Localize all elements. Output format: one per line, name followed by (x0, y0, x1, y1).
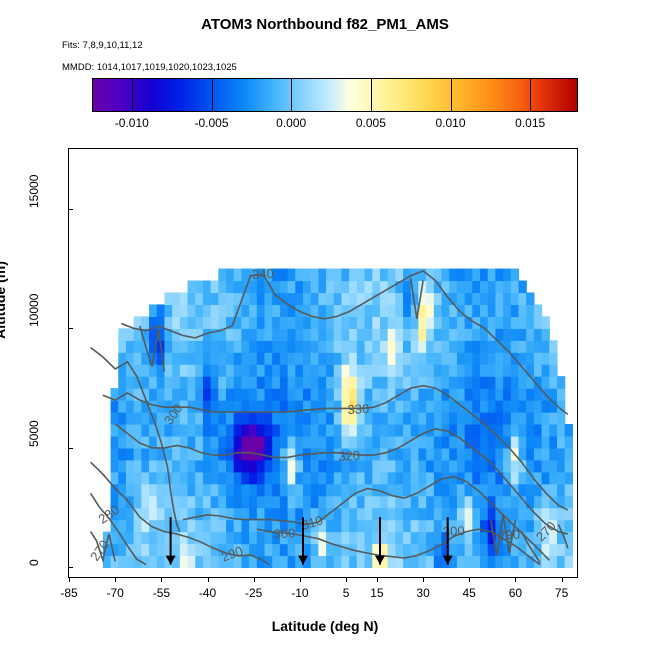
x-tick-label: 5 (343, 586, 350, 600)
colorbar-tick (451, 78, 452, 112)
x-tick-label: -85 (60, 586, 77, 600)
y-axis-label: Altitude (m) (0, 220, 8, 380)
svg-text:340: 340 (252, 266, 274, 282)
page-title: ATOM3 Northbound f82_PM1_AMS (0, 16, 650, 33)
x-tick-label: -70 (107, 586, 124, 600)
x-tick-mark (300, 577, 301, 582)
x-tick-mark (115, 577, 116, 582)
x-tick-mark (423, 577, 424, 582)
colorbar-tick-label: 0.015 (515, 116, 545, 130)
x-tick-mark (346, 577, 347, 582)
colorbar-tick-labels: -0.010-0.0050.0000.0050.0100.015 (92, 116, 578, 132)
colorbar-tick-label: 0.005 (356, 116, 386, 130)
x-tick-label: 45 (463, 586, 476, 600)
svg-text:300: 300 (443, 523, 465, 539)
x-tick-label: 75 (555, 586, 568, 600)
x-tick-label: 30 (416, 586, 429, 600)
x-tick-mark (69, 577, 70, 582)
y-tick-mark (68, 567, 73, 568)
svg-text:330: 330 (347, 401, 369, 417)
colorbar-ticks (92, 78, 578, 112)
y-tick-mark (68, 209, 73, 210)
heatmap-canvas: 340330320310300300300290290280270270 (69, 149, 577, 577)
x-tick-mark (562, 577, 563, 582)
x-tick-mark (208, 577, 209, 582)
colorbar-tick (132, 78, 133, 112)
x-tick-mark (161, 577, 162, 582)
x-tick-label: 60 (509, 586, 522, 600)
svg-text:300: 300 (273, 525, 295, 541)
heatmap-panel: 340330320310300300300290290280270270 (68, 148, 578, 578)
colorbar-tick (291, 78, 292, 112)
colorbar-tick-label: -0.010 (115, 116, 149, 130)
colorbar-tick-label: 0.000 (276, 116, 306, 130)
colorbar-tick (371, 78, 372, 112)
colorbar-tick (212, 78, 213, 112)
x-tick-mark (377, 577, 378, 582)
y-tick-mark (68, 328, 73, 329)
x-tick-mark (469, 577, 470, 582)
x-tick-mark (254, 577, 255, 582)
colorbar (92, 78, 578, 112)
x-axis-label: Latitude (deg N) (0, 618, 650, 634)
mmdd-annotation: MMDD: 1014,1017,1019,1020,1023,1025 (62, 62, 237, 73)
x-tick-label: -10 (291, 586, 308, 600)
fits-annotation: Fits: 7,8,9,10,11,12 (62, 40, 143, 51)
colorbar-tick (530, 78, 531, 112)
colorbar-tick-label: -0.005 (194, 116, 228, 130)
chart-root: ATOM3 Northbound f82_PM1_AMS Fits: 7,8,9… (0, 0, 650, 650)
x-tick-label: -25 (245, 586, 262, 600)
x-tick-label: -40 (199, 586, 216, 600)
y-tick-mark (68, 448, 73, 449)
svg-text:290: 290 (498, 527, 520, 543)
colorbar-tick-label: 0.010 (435, 116, 465, 130)
x-tick-mark (515, 577, 516, 582)
x-tick-label: -55 (153, 586, 170, 600)
x-tick-label: 15 (370, 586, 383, 600)
svg-text:320: 320 (338, 448, 360, 464)
